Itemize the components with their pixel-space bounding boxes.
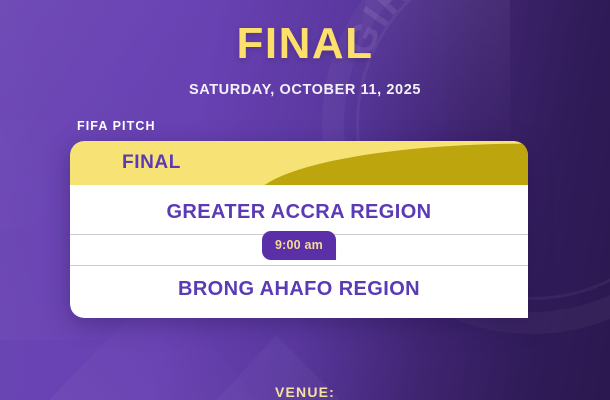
match-card-body: GREATER ACCRA REGION 9:00 am BRONG AHAFO… <box>70 185 528 318</box>
stage-label: FINAL <box>70 141 528 185</box>
watermark-text-path: GIRLS CHAMPIONSHIP <box>336 0 610 136</box>
pitch-label: FIFA PITCH <box>77 119 156 133</box>
page-title: FINAL <box>0 22 610 66</box>
svg-text:GIRLS CHAMPIONSHIP: GIRLS CHAMPIONSHIP <box>336 0 610 136</box>
away-team-name: BRONG AHAFO REGION <box>70 266 528 318</box>
match-poster: GIRLS CHAMPIONSHIP FINAL SATURDAY, OCTOB… <box>0 0 610 400</box>
match-date: SATURDAY, OCTOBER 11, 2025 <box>0 82 610 98</box>
match-card[interactable]: FINAL GREATER ACCRA REGION 9:00 am BRONG… <box>70 141 528 318</box>
home-team-name: GREATER ACCRA REGION <box>70 185 528 234</box>
kickoff-time-badge: 9:00 am <box>262 231 336 260</box>
venue-label: VENUE: <box>0 384 610 400</box>
kickoff-row: 9:00 am <box>70 234 528 266</box>
match-card-header: FINAL <box>70 141 528 185</box>
